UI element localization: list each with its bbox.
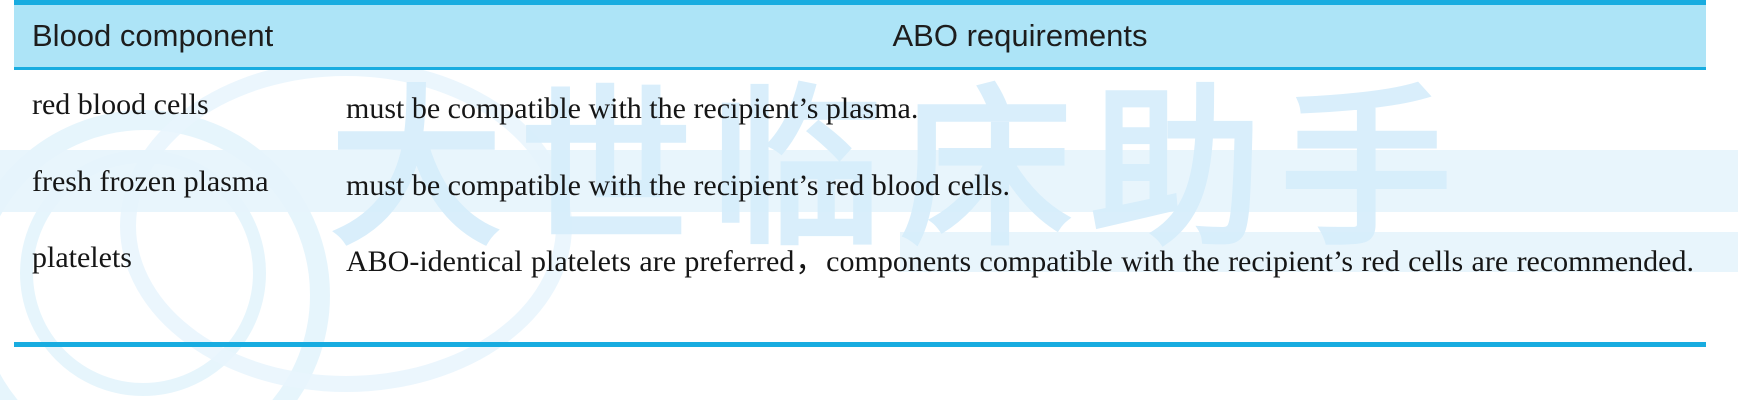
table-bottom-rule xyxy=(14,342,1706,347)
cell-blood-component: red blood cells xyxy=(14,69,334,147)
table-header-row: Blood component ABO requirements xyxy=(14,5,1706,69)
cell-abo-requirement: must be compatible with the recipient’s … xyxy=(334,147,1706,224)
column-header-blood-component: Blood component xyxy=(14,5,334,69)
cell-abo-requirement: ABO-identical platelets are preferred，co… xyxy=(334,223,1706,342)
cell-abo-requirement: must be compatible with the recipient’s … xyxy=(334,69,1706,147)
table-body: red blood cells must be compatible with … xyxy=(14,69,1706,343)
table-row: platelets ABO-identical platelets are pr… xyxy=(14,223,1706,342)
blood-component-table-container: Blood component ABO requirements red blo… xyxy=(14,0,1706,347)
cell-blood-component: platelets xyxy=(14,223,334,342)
table-row: red blood cells must be compatible with … xyxy=(14,69,1706,147)
table-header: Blood component ABO requirements xyxy=(14,5,1706,69)
blood-component-table: Blood component ABO requirements red blo… xyxy=(14,5,1706,342)
table-row: fresh frozen plasma must be compatible w… xyxy=(14,147,1706,224)
column-header-abo-requirements: ABO requirements xyxy=(334,5,1706,69)
cell-blood-component: fresh frozen plasma xyxy=(14,147,334,224)
